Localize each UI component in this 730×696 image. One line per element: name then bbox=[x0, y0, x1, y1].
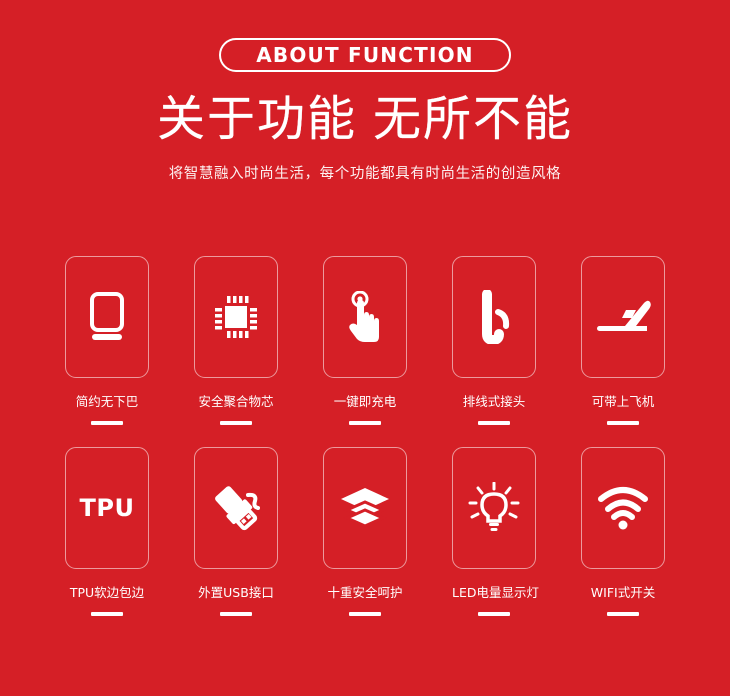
feature-item-tenfold-protection[interactable]: 十重安全呵护 bbox=[323, 447, 407, 616]
feature-item-wifi-switch[interactable]: WIFI式开关 bbox=[581, 447, 665, 616]
label-divider bbox=[220, 612, 252, 616]
page-title: 关于功能无所不能 bbox=[0, 94, 730, 144]
label-divider bbox=[349, 612, 381, 616]
feature-card[interactable]: TPU bbox=[65, 447, 149, 569]
wifi-icon bbox=[595, 480, 651, 536]
chip-icon bbox=[208, 289, 264, 345]
label-divider bbox=[478, 612, 510, 616]
feature-card[interactable] bbox=[452, 447, 536, 569]
feature-item-one-key-charge[interactable]: 一键即充电 bbox=[323, 256, 407, 425]
feature-row-2: TPU TPU软边包边 bbox=[0, 447, 730, 616]
feature-card[interactable] bbox=[323, 447, 407, 569]
label-divider bbox=[349, 421, 381, 425]
feature-item-simple-chin[interactable]: 简约无下巴 bbox=[65, 256, 149, 425]
feature-label: 可带上飞机 bbox=[581, 391, 665, 410]
eyebrow-badge: ABOUT FUNCTION bbox=[219, 38, 511, 72]
page-header: ABOUT FUNCTION 关于功能无所不能 将智慧融入时尚生活，每个功能都具… bbox=[0, 38, 730, 183]
label-divider bbox=[607, 612, 639, 616]
feature-card[interactable] bbox=[194, 447, 278, 569]
feature-item-tpu-edge[interactable]: TPU TPU软边包边 bbox=[65, 447, 149, 616]
label-divider bbox=[220, 421, 252, 425]
feature-card[interactable] bbox=[452, 256, 536, 378]
lightbulb-icon bbox=[466, 480, 522, 536]
feature-row-1: 简约无下巴 bbox=[0, 256, 730, 425]
feature-item-airplane-safe[interactable]: 可带上飞机 bbox=[581, 256, 665, 425]
feature-grid: 简约无下巴 bbox=[0, 256, 730, 616]
feature-label: 十重安全呵护 bbox=[323, 582, 407, 601]
feature-label: 简约无下巴 bbox=[65, 391, 149, 410]
tpu-text-icon: TPU bbox=[79, 480, 135, 536]
page-title-part1: 关于功能 bbox=[157, 91, 357, 147]
feature-label: 排线式接头 bbox=[452, 391, 536, 410]
airplane-icon bbox=[595, 289, 651, 345]
feature-item-polymer-core[interactable]: 安全聚合物芯 bbox=[194, 256, 278, 425]
feature-label: TPU软边包边 bbox=[65, 582, 149, 601]
feature-label: LED电量显示灯 bbox=[452, 582, 536, 601]
feature-card[interactable] bbox=[194, 256, 278, 378]
feature-card[interactable] bbox=[581, 447, 665, 569]
feature-item-led-indicator[interactable]: LED电量显示灯 bbox=[452, 447, 536, 616]
feature-label: WIFI式开关 bbox=[581, 582, 665, 601]
flex-cable-connector-icon bbox=[466, 289, 522, 345]
page-subtitle: 将智慧融入时尚生活，每个功能都具有时尚生活的创造风格 bbox=[0, 162, 730, 183]
feature-card[interactable] bbox=[581, 256, 665, 378]
feature-item-flex-connector[interactable]: 排线式接头 bbox=[452, 256, 536, 425]
smartphone-icon bbox=[79, 289, 135, 345]
tpu-icon-label: TPU bbox=[80, 494, 135, 522]
eyebrow-label: ABOUT FUNCTION bbox=[256, 45, 474, 65]
tap-hand-icon bbox=[337, 289, 393, 345]
feature-label: 一键即充电 bbox=[323, 391, 407, 410]
feature-card[interactable] bbox=[65, 256, 149, 378]
feature-card[interactable] bbox=[323, 256, 407, 378]
usb-plug-icon bbox=[208, 480, 264, 536]
feature-item-external-usb[interactable]: 外置USB接口 bbox=[194, 447, 278, 616]
page-title-part2: 无所不能 bbox=[373, 91, 573, 147]
label-divider bbox=[91, 421, 123, 425]
label-divider bbox=[478, 421, 510, 425]
layers-icon bbox=[337, 480, 393, 536]
feature-label: 外置USB接口 bbox=[194, 582, 278, 601]
label-divider bbox=[91, 612, 123, 616]
label-divider bbox=[607, 421, 639, 425]
feature-label: 安全聚合物芯 bbox=[194, 391, 278, 410]
